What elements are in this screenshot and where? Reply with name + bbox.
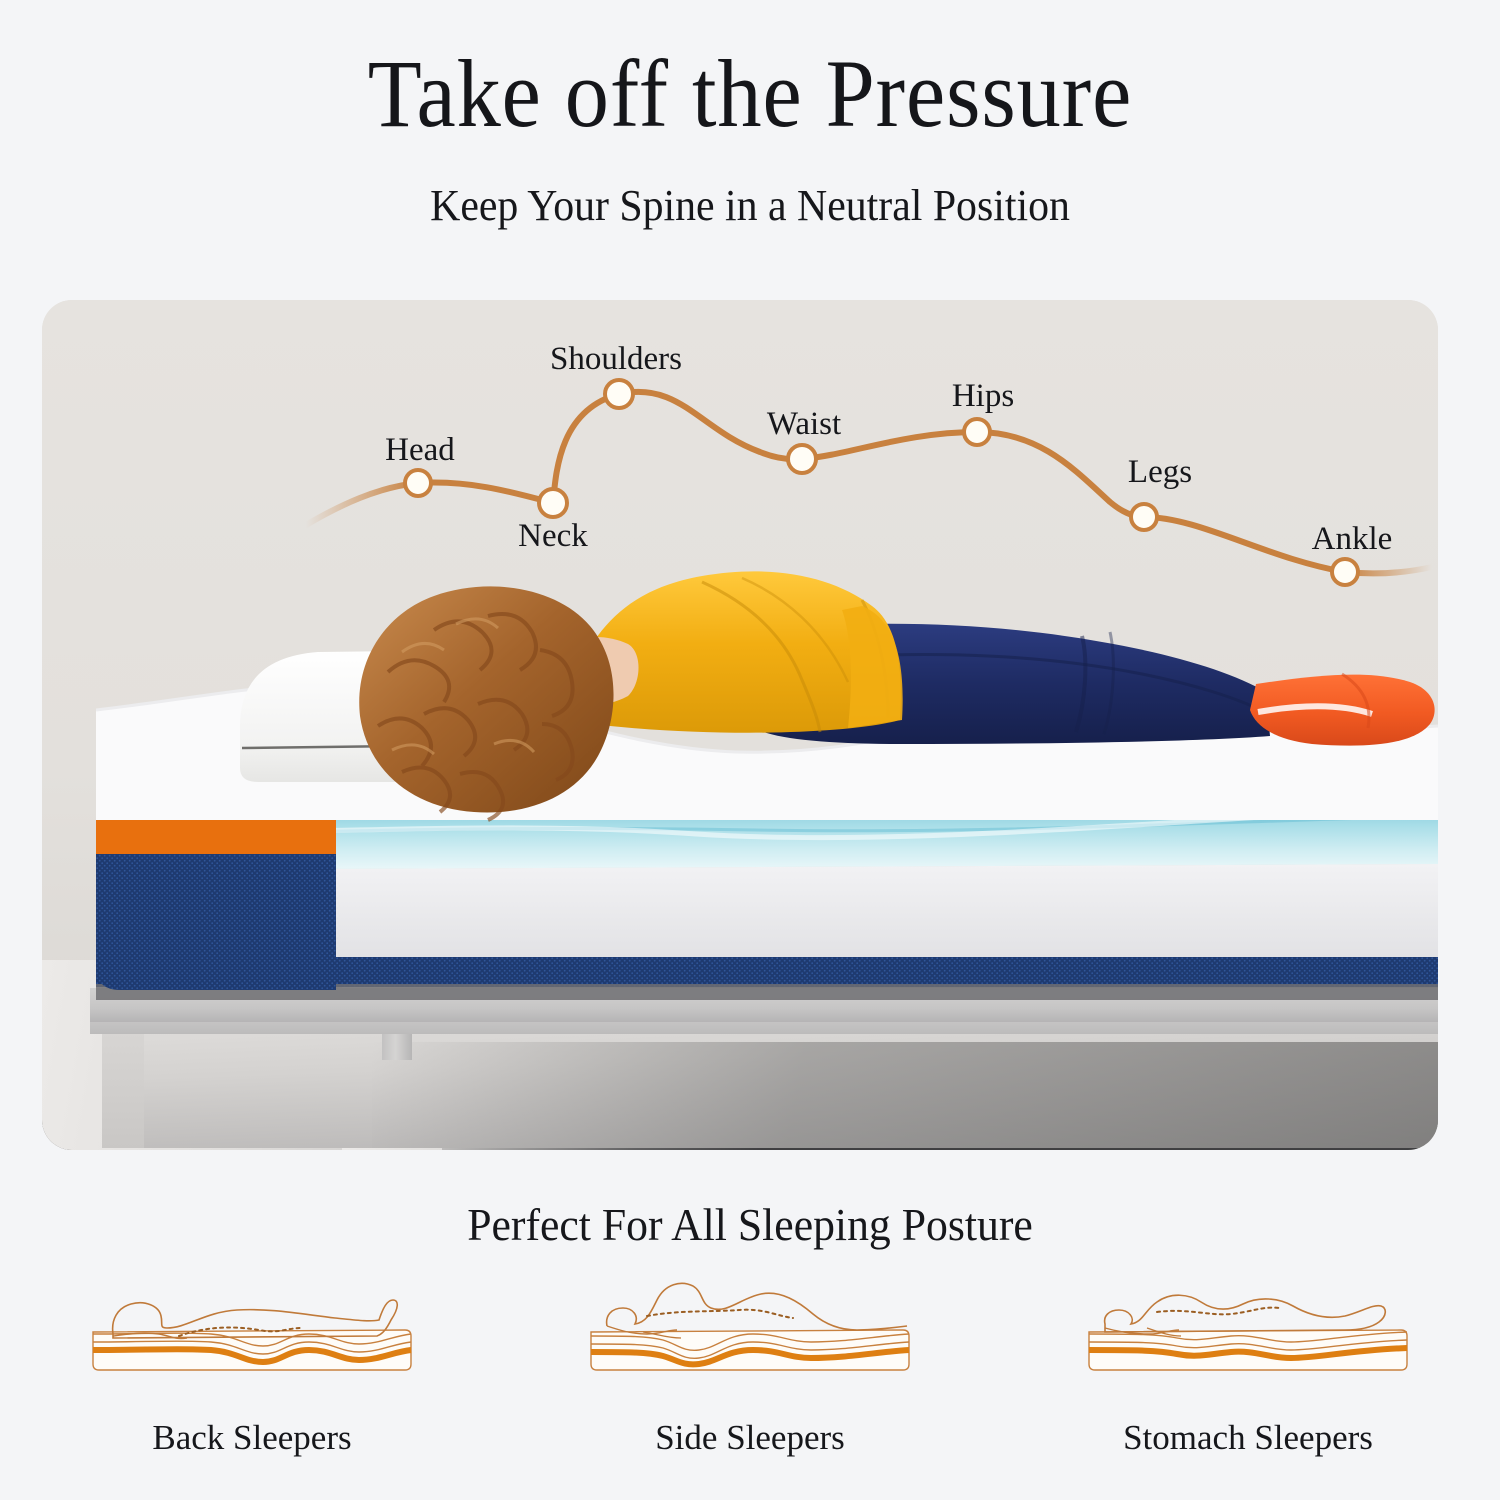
spine-label-hips: Hips: [952, 378, 1014, 415]
back-sleeper-icon: [87, 1272, 417, 1384]
posture-card-side: Side Sleepers: [540, 1272, 960, 1458]
posture-caption-stomach: Stomach Sleepers: [1123, 1418, 1373, 1458]
posture-caption-side: Side Sleepers: [655, 1418, 845, 1458]
page-title: Take off the Pressure: [60, 44, 1440, 145]
spine-label-head: Head: [385, 432, 455, 469]
spine-label-ankle: Ankle: [1312, 521, 1393, 558]
hero-image-panel: [42, 300, 1438, 1150]
spine-label-shoulders: Shoulders: [550, 341, 682, 378]
posture-card-stomach: Stomach Sleepers: [1038, 1272, 1458, 1458]
posture-card-back: Back Sleepers: [42, 1272, 462, 1458]
side-sleeper-icon: [585, 1272, 915, 1384]
page-subtitle: Keep Your Spine in a Neutral Position: [38, 182, 1463, 230]
spine-label-waist: Waist: [767, 406, 841, 443]
sleeping-person-illustration: [42, 300, 1438, 1150]
mattress-scene-photo: [42, 300, 1438, 1150]
spine-label-legs: Legs: [1128, 454, 1192, 491]
stomach-sleeper-icon: [1083, 1272, 1413, 1384]
posture-card-row: Back Sleepers Side Sleepers: [42, 1272, 1458, 1458]
posture-section-title: Perfect For All Sleeping Posture: [38, 1198, 1463, 1251]
spine-label-neck: Neck: [518, 518, 588, 555]
posture-caption-back: Back Sleepers: [152, 1418, 351, 1458]
